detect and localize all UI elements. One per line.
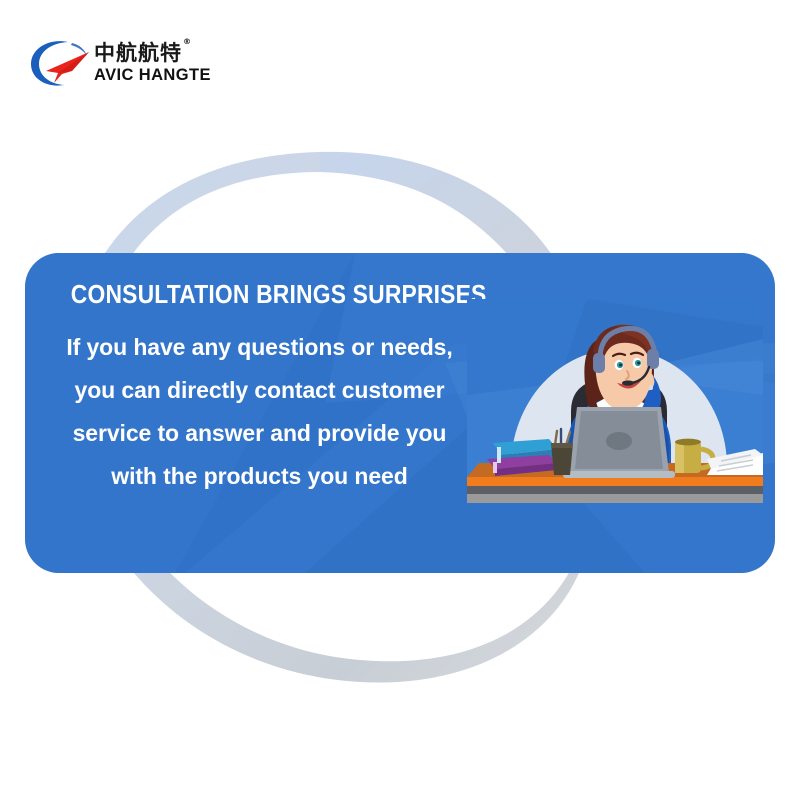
desk-edge <box>467 477 763 486</box>
laptop-shape <box>563 407 675 478</box>
avic-hangte-arrow-logo-icon <box>28 37 90 89</box>
logo-arc-shape <box>31 41 68 85</box>
laptop-logo <box>606 432 632 450</box>
stacked-books-shape <box>487 439 557 476</box>
registered-trademark-icon: ® <box>183 37 192 46</box>
card-heading: CONSULTATION BRINGS SURPRISES <box>71 279 449 310</box>
brand-logo-text: 中航航特® AVIC HANGTE <box>94 42 211 84</box>
brand-logo[interactable]: 中航航特® AVIC HANGTE <box>28 33 228 93</box>
brand-english-name: AVIC HANGTE <box>94 66 211 84</box>
consultation-info-card: CONSULTATION BRINGS SURPRISES If you hav… <box>25 253 775 573</box>
brand-chinese-name: 中航航特® <box>94 42 211 64</box>
headset-earcup <box>593 353 605 373</box>
floor <box>467 494 763 503</box>
customer-service-agent-illustration <box>467 299 763 503</box>
desk-shadow <box>467 486 763 494</box>
card-body-text: If you have any questions or needs, you … <box>47 326 472 498</box>
brand-chinese-name-text: 中航航特 <box>94 41 182 65</box>
headset-mic <box>622 380 634 385</box>
laptop-base <box>563 471 675 478</box>
